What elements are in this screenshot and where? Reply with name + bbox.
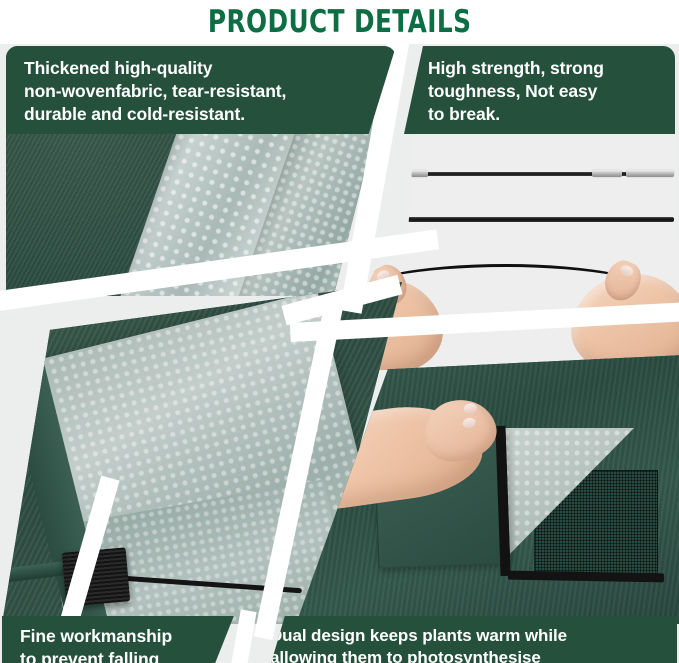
rod-ferrule: [592, 170, 622, 177]
caption-fabric: Thickened high-quality non-wovenfabric, …: [6, 46, 396, 134]
caption-line: to prevent falling: [20, 648, 242, 663]
thumb: [599, 256, 647, 307]
rod-ferrule: [404, 170, 428, 177]
page-title: PRODUCT DETAILS: [208, 4, 471, 40]
caption-line: Dual design keeps plants warm while: [270, 625, 663, 647]
caption-line: toughness, Not easy: [428, 80, 663, 103]
caption-body: Dual design keeps plants warm while allo…: [270, 625, 663, 663]
caption-line: non-wovenfabric, tear-resistant,: [24, 80, 382, 103]
image-collage: Thickened high-quality non-wovenfabric, …: [0, 44, 679, 663]
straight-black-rod: [404, 217, 674, 222]
caption-line: High strength, strong: [428, 57, 663, 80]
product-details-infographic: PRODUCT DETAILS: [0, 0, 679, 663]
rod-ferrule: [626, 170, 674, 177]
caption-line: Thickened high-quality: [24, 57, 382, 80]
caption-strength: High strength, strong toughness, Not eas…: [404, 46, 675, 134]
fingernail: [462, 417, 477, 429]
fingernail: [463, 402, 478, 414]
caption-line: Fine workmanship: [20, 625, 242, 648]
title-bar: PRODUCT DETAILS: [0, 0, 679, 44]
caption-dual-design: Dual design keeps plants warm while allo…: [246, 616, 677, 663]
caption-line: allowing them to photosynthesise: [270, 647, 663, 663]
caption-line: to break.: [428, 103, 663, 126]
caption-workmanship: Fine workmanship to prevent falling off.: [2, 616, 254, 663]
caption-line: durable and cold-resistant.: [24, 103, 382, 126]
fingernail: [619, 263, 635, 278]
